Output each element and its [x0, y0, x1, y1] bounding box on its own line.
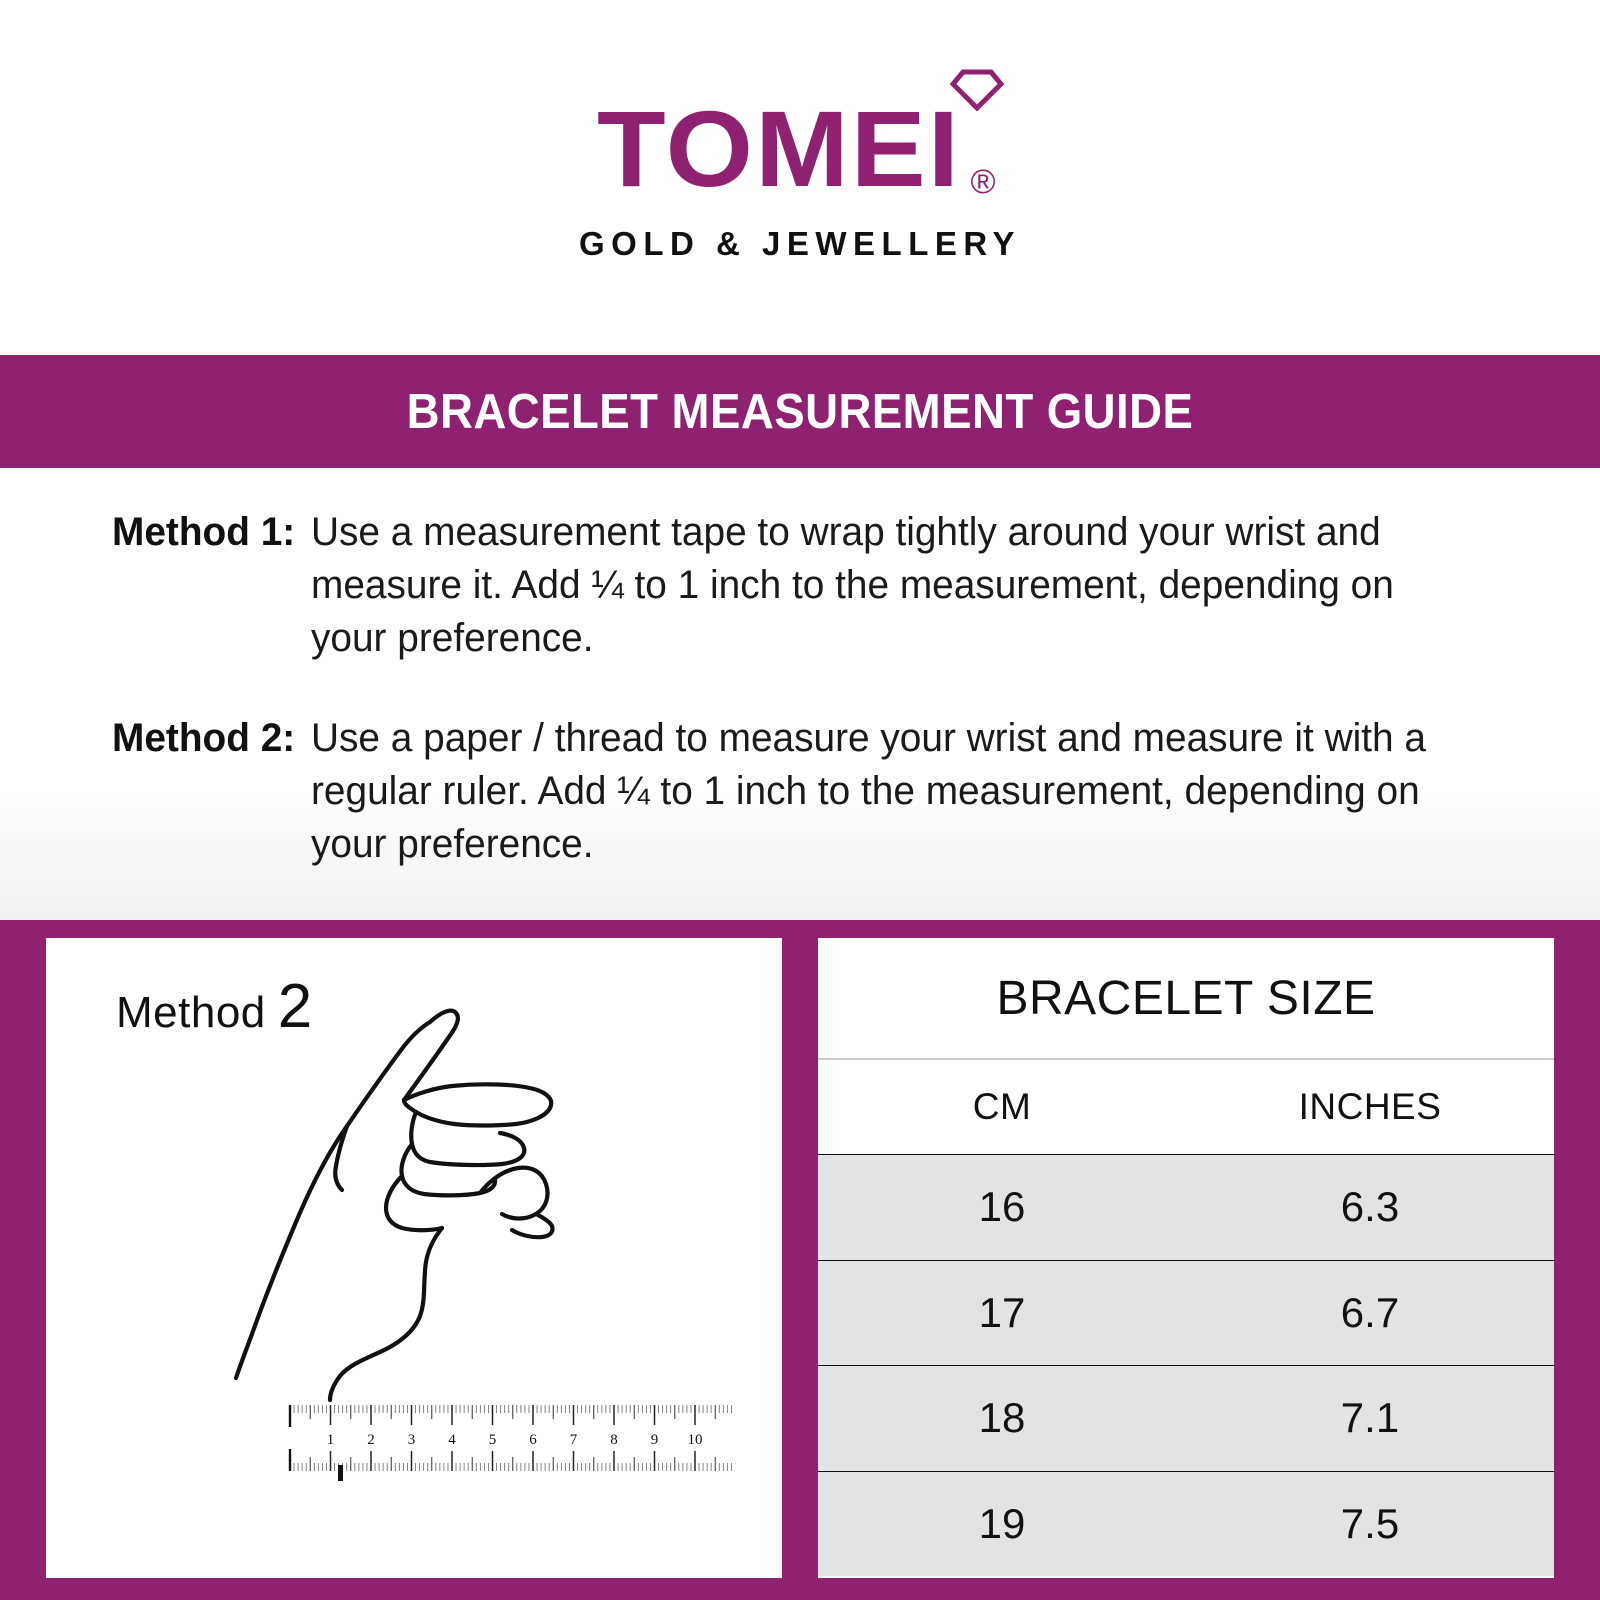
cell-inches: 6.3: [1186, 1155, 1554, 1260]
size-table-title: BRACELET SIZE: [818, 938, 1554, 1060]
brand-tagline: GOLD & JEWELLERY: [579, 225, 1021, 263]
method-1-block: Method 1: Use a measurement tape to wrap…: [0, 506, 1600, 664]
ruler-label: 9: [651, 1432, 659, 1448]
page-title-banner: BRACELET MEASUREMENT GUIDE: [0, 355, 1600, 468]
ruler-label: 10: [688, 1432, 703, 1448]
diamond-icon: [950, 69, 1004, 111]
table-row: 18 7.1: [818, 1365, 1554, 1471]
bracelet-measurement-guide-page: TOMEI ® GOLD & JEWELLERY BRACELET MEASUR…: [0, 0, 1600, 1600]
cell-cm: 18: [818, 1366, 1186, 1471]
brand-logo-area: TOMEI ® GOLD & JEWELLERY: [0, 0, 1600, 355]
ruler-label: 2: [367, 1432, 375, 1448]
ruler-label: 4: [448, 1432, 456, 1448]
cell-inches: 6.7: [1186, 1261, 1554, 1366]
registered-trademark-icon: ®: [970, 165, 995, 199]
method-2-label: Method 2:: [112, 712, 295, 870]
cell-cm: 17: [818, 1261, 1186, 1366]
cell-cm: 16: [818, 1155, 1186, 1260]
bottom-purple-section: Method 2: [0, 920, 1600, 1600]
method-2-body: Use a paper / thread to measure your wri…: [311, 712, 1464, 870]
ruler-label: 5: [489, 1432, 497, 1448]
table-row: 16 6.3: [818, 1154, 1554, 1260]
size-table-header-row: CM INCHES: [818, 1060, 1554, 1154]
ruler-label: 3: [408, 1432, 416, 1448]
table-row: 19 7.5: [818, 1471, 1554, 1577]
column-header-cm: CM: [818, 1060, 1186, 1154]
brand-wordmark: TOMEI: [597, 95, 961, 203]
hand-illustration: [234, 994, 594, 1414]
ruler-label: 8: [610, 1432, 618, 1448]
methods-section: Method 1: Use a measurement tape to wrap…: [0, 468, 1600, 920]
method-1-body: Use a measurement tape to wrap tightly a…: [311, 506, 1464, 664]
table-row: 17 6.7: [818, 1260, 1554, 1366]
method-2-block: Method 2: Use a paper / thread to measur…: [0, 712, 1600, 870]
cell-inches: 7.5: [1186, 1472, 1554, 1577]
method-2-illustration-panel: Method 2: [46, 938, 782, 1578]
bracelet-size-table-panel: BRACELET SIZE CM INCHES 16 6.3 17 6.7 18…: [818, 938, 1554, 1578]
column-header-inches: INCHES: [1186, 1060, 1554, 1154]
cell-cm: 19: [818, 1472, 1186, 1577]
ruler-label: 7: [570, 1432, 578, 1448]
method-1-label: Method 1:: [112, 506, 295, 664]
ruler-illustration: 12345678910: [286, 1383, 736, 1483]
ruler-label: 1: [327, 1432, 335, 1448]
page-title: BRACELET MEASUREMENT GUIDE: [407, 384, 1194, 440]
cell-inches: 7.1: [1186, 1366, 1554, 1471]
ruler-label: 6: [529, 1432, 537, 1448]
logo-wordmark-row: TOMEI ®: [604, 93, 995, 203]
